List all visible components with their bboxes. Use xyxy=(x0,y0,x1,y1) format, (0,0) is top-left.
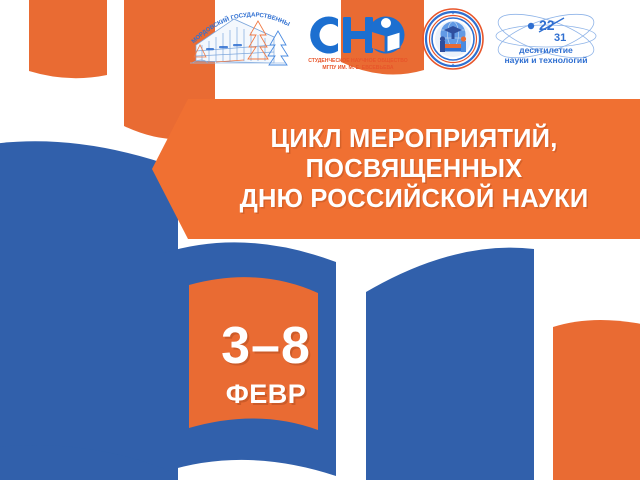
sno-letter-c xyxy=(310,17,338,54)
headline-line-3: ДНЮ РОССИЙСКОЙ НАУКИ xyxy=(196,184,632,214)
headline-line-1: ЦИКЛ МЕРОПРИЯТИЙ, xyxy=(196,124,632,154)
poster-canvas: МОРДОВСКИЙ ГОСУДАРСТВЕННЫЙ УНИВЕРСИТЕТ xyxy=(0,0,640,480)
center-blue-page xyxy=(366,248,534,480)
decade-nucleus-dot xyxy=(528,23,534,29)
sno-logo: СТУДЕНЧЕСКОЕ НАУЧНОЕ ОБЩЕСТВО МГПУ ИМ. М… xyxy=(302,6,414,72)
headline-banner: ЦИКЛ МЕРОПРИЯТИЙ, ПОСВЯЩЕННЫХ ДНЮ РОССИЙ… xyxy=(152,99,640,239)
right-orange-page xyxy=(553,320,640,480)
decade-caption-line1: десятилетие xyxy=(519,45,573,55)
sno-caption-line2: МГПУ ИМ. М. Е. ЕВСЕВЬЕВА xyxy=(322,65,394,71)
date-month: ФЕВР xyxy=(226,381,307,408)
date-block: 3–8 ФЕВР xyxy=(186,296,346,432)
decade-of-science-logo: 22 31 десятилетие науки и технологий xyxy=(492,10,600,68)
headline-text: ЦИКЛ МЕРОПРИЯТИЙ, ПОСВЯЩЕННЫХ ДНЮ РОССИЙ… xyxy=(196,124,632,214)
round-emblem-logo xyxy=(422,8,484,70)
sno-caption-line1: СТУДЕНЧЕСКОЕ НАУЧНОЕ ОБЩЕСТВО xyxy=(308,58,408,64)
date-range: 3–8 xyxy=(221,320,311,372)
headline-line-2: ПОСВЯЩЕННЫХ xyxy=(196,154,632,184)
university-building-logo: МОРДОВСКИЙ ГОСУДАРСТВЕННЫЙ УНИВЕРСИТЕТ xyxy=(186,5,294,73)
decade-caption-line2: науки и технологий xyxy=(504,55,587,65)
logo-row: МОРДОВСКИЙ ГОСУДАРСТВЕННЫЙ УНИВЕРСИТЕТ xyxy=(186,2,638,76)
decade-year-end: 31 xyxy=(554,32,566,44)
sno-caption: СТУДЕНЧЕСКОЕ НАУЧНОЕ ОБЩЕСТВО МГПУ ИМ. М… xyxy=(308,58,408,71)
